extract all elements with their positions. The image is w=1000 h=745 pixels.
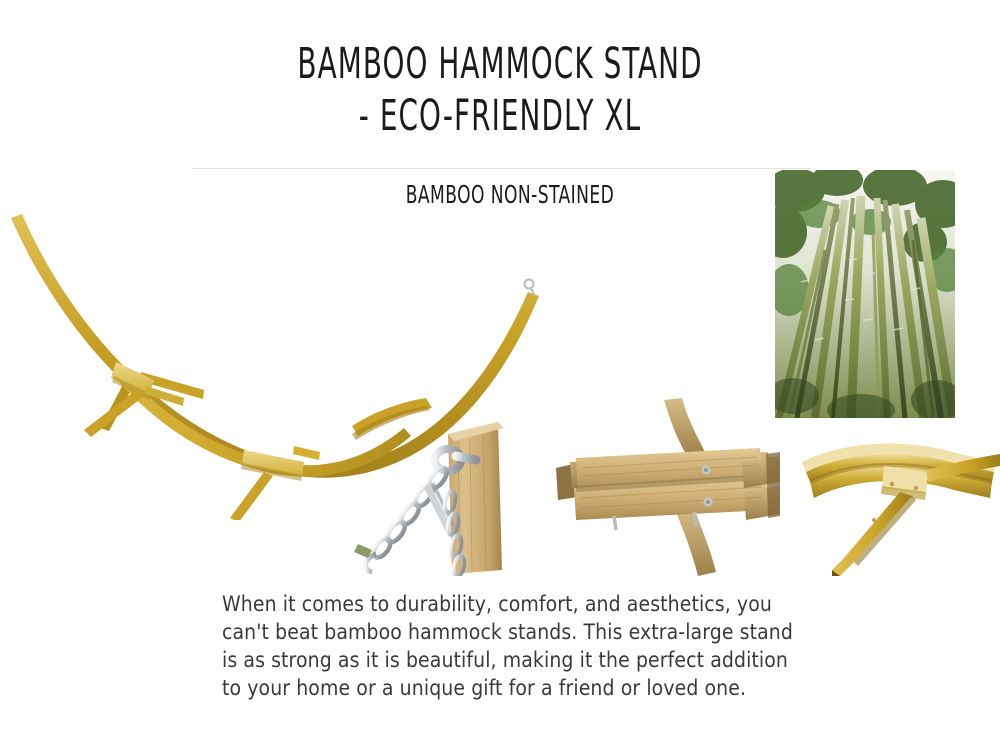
title-line-2: - ECO-FRIENDLY XL xyxy=(140,90,860,142)
page-title: BAMBOO HAMMOCK STAND - ECO-FRIENDLY XL xyxy=(0,38,1000,142)
bamboo-forest-photo xyxy=(775,170,955,418)
product-sheet: BAMBOO HAMMOCK STAND - ECO-FRIENDLY XL B… xyxy=(0,0,1000,745)
title-line-1: BAMBOO HAMMOCK STAND xyxy=(140,38,860,90)
product-description: When it comes to durability, comfort, an… xyxy=(222,590,802,702)
cross-brace-joinery-detail xyxy=(556,396,781,576)
chain-hardware-detail xyxy=(352,398,557,576)
description-text: When it comes to durability, comfort, an… xyxy=(222,590,802,702)
header-divider xyxy=(193,168,810,169)
curved-base-leg-detail xyxy=(788,432,1000,577)
